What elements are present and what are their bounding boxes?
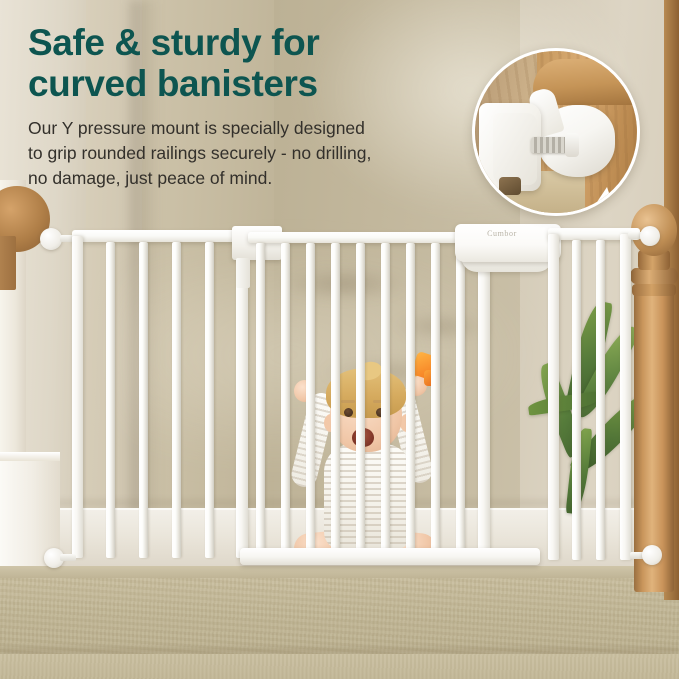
headline: Safe & sturdy for curved banisters bbox=[28, 22, 458, 105]
headline-line-1: Safe & sturdy for bbox=[28, 22, 319, 63]
y-pressure-mount-closeup bbox=[472, 48, 640, 216]
gate-bar bbox=[331, 243, 340, 555]
subheading: Our Y pressure mount is specially design… bbox=[28, 116, 460, 191]
inset-gasket bbox=[499, 177, 521, 195]
gate-bar bbox=[596, 240, 605, 560]
brand-label: Cumbor bbox=[470, 227, 534, 240]
gate-bar bbox=[139, 242, 148, 558]
gate-bar bbox=[172, 242, 181, 558]
headline-line-2: curved banisters bbox=[28, 63, 458, 104]
pressure-knob-top-left[interactable] bbox=[40, 228, 62, 250]
gate-bar bbox=[205, 242, 214, 558]
gate-bar bbox=[572, 240, 581, 560]
gate-bar bbox=[406, 243, 415, 555]
gate-bar bbox=[106, 242, 115, 558]
gate-bar bbox=[306, 243, 315, 555]
gate-post-door-latch-side bbox=[478, 238, 490, 558]
gate-top-rail-door bbox=[248, 232, 480, 243]
gate-bottom-rail-door bbox=[240, 548, 540, 565]
pressure-stem-bottom-left bbox=[60, 554, 76, 561]
carpet-lower-step bbox=[0, 654, 679, 679]
gate-post-right-outer bbox=[620, 234, 631, 560]
gate-bar bbox=[381, 243, 390, 555]
gate-bar bbox=[356, 243, 365, 555]
pressure-knob-bottom-right[interactable] bbox=[642, 545, 662, 565]
gate-bar bbox=[281, 243, 290, 555]
subheading-line-1: Our Y pressure mount is specially design… bbox=[28, 116, 460, 141]
subheading-line-2: to grip rounded railings securely - no d… bbox=[28, 141, 460, 166]
gate-bar bbox=[431, 243, 440, 555]
product-lifestyle-image: Cumbor Safe & sturdy for bbox=[0, 0, 679, 679]
gate-post-right-inner bbox=[548, 234, 559, 560]
inset-threaded-rod bbox=[531, 137, 569, 153]
subheading-line-3: no damage, just peace of mind. bbox=[28, 166, 460, 191]
gate-post-left-outer bbox=[72, 236, 83, 558]
inset-wall-corner bbox=[587, 187, 617, 216]
gate-hinge-tab bbox=[236, 258, 250, 288]
gate-bar bbox=[256, 243, 265, 555]
pressure-knob-top-right[interactable] bbox=[640, 226, 660, 246]
gate-top-rail-left-extension bbox=[72, 230, 242, 242]
inset-rod-cap bbox=[565, 133, 579, 157]
gate-bar bbox=[456, 243, 465, 555]
